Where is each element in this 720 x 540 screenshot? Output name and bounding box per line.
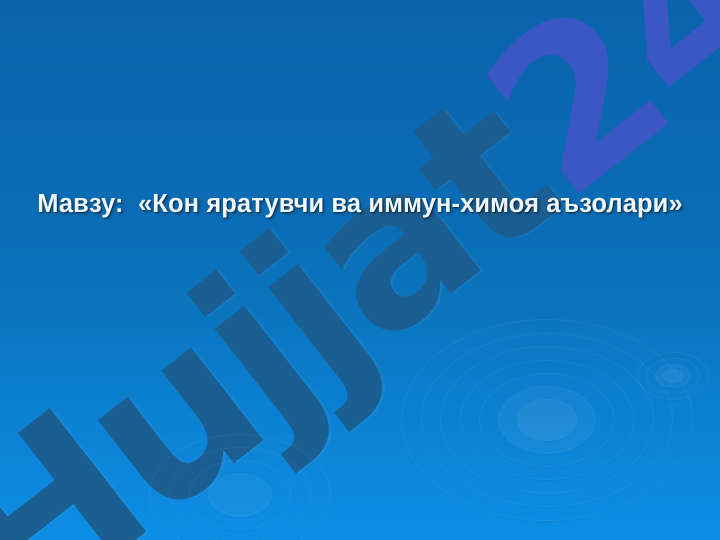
presentation-slide: Hujjat24 Мавзу: «Кон яратувчи ва иммун-х… — [0, 0, 720, 540]
ripple-decoration-left — [150, 430, 330, 540]
watermark: Hujjat24 — [0, 0, 720, 540]
ripple-decoration-small — [638, 352, 708, 400]
slide-title-block: Мавзу: «Кон яратувчи ва иммун-химоя аъзо… — [36, 186, 684, 222]
watermark-name-text: Hujjat — [0, 46, 597, 540]
slide-title: Мавзу: «Кон яратувчи ва иммун-химоя аъзо… — [36, 186, 684, 222]
watermark-number-text: 24 — [442, 0, 720, 244]
ripple-decoration-large — [402, 310, 692, 530]
